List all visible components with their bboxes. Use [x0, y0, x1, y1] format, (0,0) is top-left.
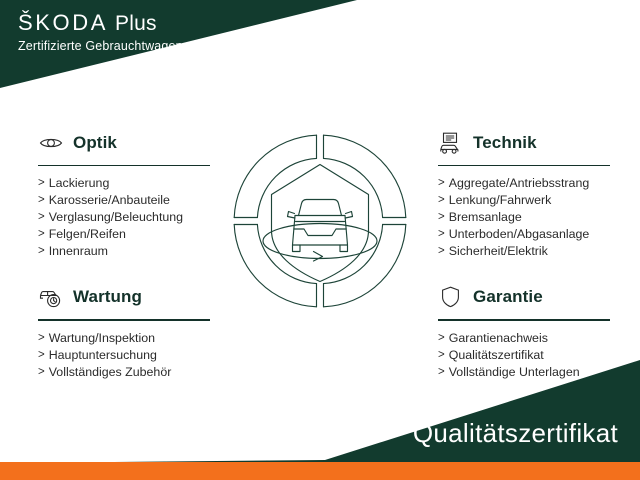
- list-item-label: Karosserie/Anbauteile: [49, 192, 170, 209]
- chevron-icon: >: [38, 192, 45, 209]
- list-item-label: Qualitätszertifikat: [449, 347, 544, 364]
- certificate-page: ŠKODA Plus Zertifizierte Gebrauchtwagen …: [0, 0, 640, 480]
- footer-orange-bar: [0, 462, 640, 480]
- orbit-arrow-head: [314, 252, 323, 262]
- section-garantie: Garantie >Garantienachweis >Qualitätszer…: [438, 282, 614, 380]
- orbit-ellipse: [263, 224, 377, 259]
- list-item-label: Verglasung/Beleuchtung: [49, 209, 183, 226]
- list-item-label: Unterboden/Abgasanlage: [449, 226, 590, 243]
- chevron-icon: >: [438, 226, 445, 243]
- section-garantie-list: >Garantienachweis >Qualitätszertifikat >…: [438, 330, 614, 381]
- brand-logo: ŠKODA Plus Zertifizierte Gebrauchtwagen: [18, 12, 183, 53]
- chevron-icon: >: [38, 175, 45, 192]
- chevron-icon: >: [38, 226, 45, 243]
- chevron-icon: >: [38, 209, 45, 226]
- list-item: >Sicherheit/Elektrik: [438, 243, 614, 260]
- section-optik-header: Optik: [38, 128, 214, 158]
- section-technik-title: Technik: [473, 133, 537, 153]
- chevron-icon: >: [38, 347, 45, 364]
- shield-icon: [438, 284, 464, 310]
- brand-name: ŠKODA: [18, 12, 108, 34]
- brand-logo-line1: ŠKODA Plus: [18, 12, 183, 34]
- car-document-icon: [438, 130, 464, 156]
- section-technik-divider: [438, 165, 610, 166]
- chevron-icon: >: [438, 209, 445, 226]
- list-item-label: Hauptuntersuchung: [49, 347, 157, 364]
- chevron-icon: >: [438, 330, 445, 347]
- section-optik-list: >Lackierung >Karosserie/Anbauteile >Verg…: [38, 175, 214, 260]
- list-item-label: Innenraum: [49, 243, 108, 260]
- list-item: >Unterboden/Abgasanlage: [438, 226, 614, 243]
- section-technik: Technik >Aggregate/Antriebsstrang >Lenku…: [438, 128, 614, 260]
- brand-tagline: Zertifizierte Gebrauchtwagen: [18, 39, 183, 53]
- section-garantie-divider: [438, 319, 610, 320]
- list-item: >Lenkung/Fahrwerk: [438, 192, 614, 209]
- chevron-icon: >: [438, 243, 445, 260]
- list-item: >Aggregate/Antriebsstrang: [438, 175, 614, 192]
- section-wartung-divider: [38, 319, 210, 320]
- list-item: >Felgen/Reifen: [38, 226, 214, 243]
- chevron-icon: >: [38, 330, 45, 347]
- section-garantie-header: Garantie: [438, 282, 614, 312]
- list-item: >Innenraum: [38, 243, 214, 260]
- list-item: >Verglasung/Beleuchtung: [38, 209, 214, 226]
- list-item: >Wartung/Inspektion: [38, 330, 214, 347]
- list-item: >Karosserie/Anbauteile: [38, 192, 214, 209]
- list-item-label: Wartung/Inspektion: [49, 330, 155, 347]
- section-optik: Optik >Lackierung >Karosserie/Anbauteile…: [38, 128, 214, 260]
- list-item-label: Sicherheit/Elektrik: [449, 243, 548, 260]
- chevron-icon: >: [438, 175, 445, 192]
- list-item: >Qualitätszertifikat: [438, 347, 614, 364]
- section-optik-title: Optik: [73, 133, 117, 153]
- chevron-icon: >: [38, 364, 45, 381]
- chevron-icon: >: [38, 243, 45, 260]
- list-item-label: Bremsanlage: [449, 209, 522, 226]
- section-wartung-title: Wartung: [73, 287, 142, 307]
- list-item-label: Garantienachweis: [449, 330, 548, 347]
- section-technik-list: >Aggregate/Antriebsstrang >Lenkung/Fahrw…: [438, 175, 614, 260]
- list-item-label: Lenkung/Fahrwerk: [449, 192, 552, 209]
- column-left: Optik >Lackierung >Karosserie/Anbauteile…: [38, 128, 214, 381]
- chevron-icon: >: [438, 192, 445, 209]
- list-item: >Lackierung: [38, 175, 214, 192]
- list-item: >Garantienachweis: [438, 330, 614, 347]
- section-wartung-list: >Wartung/Inspektion >Hauptuntersuchung >…: [38, 330, 214, 381]
- column-right: Technik >Aggregate/Antriebsstrang >Lenku…: [438, 128, 614, 381]
- list-item-label: Aggregate/Antriebsstrang: [449, 175, 590, 192]
- car-front-view: [288, 200, 353, 252]
- list-item: >Hauptuntersuchung: [38, 347, 214, 364]
- list-item: >Bremsanlage: [438, 209, 614, 226]
- car-service-icon: [38, 284, 64, 310]
- list-item-label: Felgen/Reifen: [49, 226, 126, 243]
- certified-car-shield-emblem: [232, 133, 408, 309]
- list-item-label: Vollständiges Zubehör: [49, 364, 172, 381]
- section-wartung-header: Wartung: [38, 282, 214, 312]
- chevron-icon: >: [438, 347, 445, 364]
- eye-icon: [38, 130, 64, 156]
- brand-plus-label: Plus: [115, 13, 157, 34]
- chevron-icon: >: [438, 364, 445, 381]
- section-optik-divider: [38, 165, 210, 166]
- list-item-label: Vollständige Unterlagen: [449, 364, 580, 381]
- list-item-label: Lackierung: [49, 175, 110, 192]
- section-technik-header: Technik: [438, 128, 614, 158]
- certificate-title: Qualitätszertifikat: [413, 418, 618, 449]
- list-item: >Vollständiges Zubehör: [38, 364, 214, 381]
- section-wartung: Wartung >Wartung/Inspektion >Hauptunters…: [38, 282, 214, 380]
- section-garantie-title: Garantie: [473, 287, 543, 307]
